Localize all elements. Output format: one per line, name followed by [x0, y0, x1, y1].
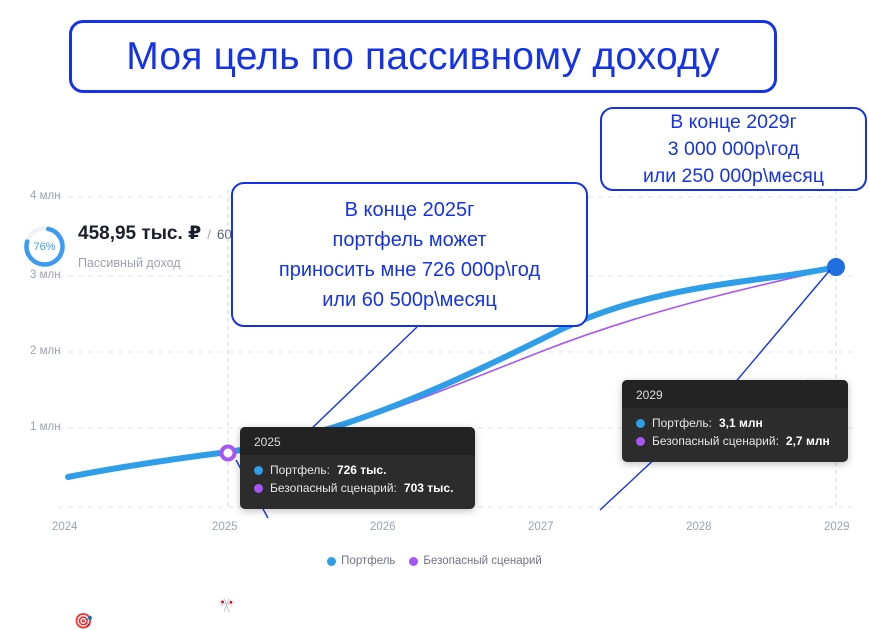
- tooltip-name-safe: Безопасный сценарий:: [270, 481, 397, 495]
- xtick-2027: 2027: [528, 521, 554, 533]
- tooltip-2029-header: 2029: [622, 380, 848, 408]
- tooltip-2029: 2029 Портфель: 3,1 млн Безопасный сценар…: [622, 380, 848, 462]
- legend-item-safe[interactable]: Безопасный сценарий: [409, 555, 541, 567]
- callout-2029-line-1: В конце 2029г: [670, 109, 797, 136]
- tooltip-name-safe: Безопасный сценарий:: [652, 434, 779, 448]
- chart-legend: Портфель Безопасный сценарий: [0, 555, 869, 567]
- tooltip-2025: 2025 Портфель: 726 тыс. Безопасный сцена…: [240, 427, 475, 509]
- tooltip-name-portfolio: Портфель:: [652, 416, 712, 430]
- xtick-2028: 2028: [686, 521, 712, 533]
- page-title-box: Моя цель по пассивному доходу: [69, 20, 777, 93]
- legend-label-safe: Безопасный сценарий: [423, 555, 541, 567]
- tooltip-row: Портфель: 726 тыс.: [254, 463, 461, 477]
- xtick-2024: 2024: [52, 521, 78, 533]
- legend-item-portfolio[interactable]: Портфель: [327, 555, 395, 567]
- legend-label-portfolio: Портфель: [341, 555, 395, 567]
- celebration-flag-icon: 🎌: [218, 598, 235, 612]
- xtick-2029: 2029: [824, 521, 850, 533]
- tooltip-value-portfolio: 3,1 млн: [719, 416, 763, 430]
- tooltip-swatch-safe: [254, 484, 263, 493]
- callout-2025-line-1: В конце 2025г: [345, 195, 475, 225]
- marker-2025: [222, 447, 235, 460]
- tooltip-2025-body: Портфель: 726 тыс. Безопасный сценарий: …: [240, 455, 475, 509]
- tooltip-row: Безопасный сценарий: 2,7 млн: [636, 434, 834, 448]
- xtick-2025: 2025: [212, 521, 238, 533]
- tooltip-name-portfolio: Портфель:: [270, 463, 330, 477]
- tooltip-swatch-safe: [636, 437, 645, 446]
- tooltip-2029-body: Портфель: 3,1 млн Безопасный сценарий: 2…: [622, 408, 848, 462]
- callout-2029-line-3: или 250 000р\месяц: [643, 163, 824, 190]
- ytick-3: 3 млн: [30, 269, 61, 281]
- tooltip-value-safe: 2,7 млн: [786, 434, 830, 448]
- ytick-2: 2 млн: [30, 345, 61, 357]
- legend-swatch-safe: [409, 557, 418, 566]
- callout-2029-line-2: 3 000 000р\год: [668, 136, 800, 163]
- tooltip-value-safe: 703 тыс.: [404, 481, 454, 495]
- callout-2029: В конце 2029г 3 000 000р\год или 250 000…: [600, 107, 867, 191]
- xtick-2026: 2026: [370, 521, 396, 533]
- callout-2025-line-4: или 60 500р\месяц: [322, 285, 497, 315]
- legend-swatch-portfolio: [327, 557, 336, 566]
- tooltip-swatch-portfolio: [254, 466, 263, 475]
- tooltip-swatch-portfolio: [636, 419, 645, 428]
- tooltip-2025-header: 2025: [240, 427, 475, 455]
- callout-2025-line-3: приносить мне 726 000р\год: [279, 255, 540, 285]
- ytick-4: 4 млн: [30, 190, 61, 202]
- callout-2025: В конце 2025г портфель может приносить м…: [231, 182, 588, 327]
- tooltip-row: Портфель: 3,1 млн: [636, 416, 834, 430]
- ytick-1: 1 млн: [30, 421, 61, 433]
- callout-2025-line-2: портфель может: [332, 225, 486, 255]
- target-icon: 🎯: [74, 614, 93, 629]
- tooltip-row: Безопасный сценарий: 703 тыс.: [254, 481, 461, 495]
- page-title: Моя цель по пассивному доходу: [126, 37, 720, 76]
- marker-2029: [827, 258, 845, 276]
- tooltip-value-portfolio: 726 тыс.: [337, 463, 387, 477]
